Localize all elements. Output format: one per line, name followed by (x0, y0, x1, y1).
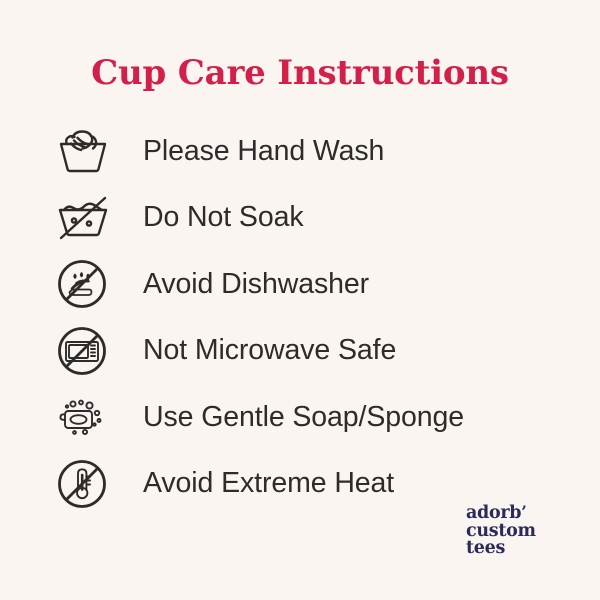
list-item: Not Microwave Safe (56, 318, 556, 385)
list-item-label: Not Microwave Safe (143, 334, 396, 367)
list-item-label: Avoid Extreme Heat (143, 467, 394, 500)
list-item-label: Avoid Dishwasher (143, 268, 369, 301)
list-item: Use Gentle Soap/Sponge (56, 384, 556, 451)
no-dishwasher-icon (56, 259, 114, 309)
list-item: Do Not Soak (56, 185, 556, 252)
page-title: Cup Care Instructions (0, 53, 600, 93)
soap-bar-bubbles-icon (56, 392, 114, 442)
logo-line-1: adorb’ (466, 505, 536, 523)
logo-apostrophe-mark: ’ (521, 503, 526, 521)
no-soak-basin-icon (56, 193, 114, 243)
list-item: Avoid Dishwasher (56, 251, 556, 318)
hand-wash-basin-icon (56, 126, 114, 176)
no-microwave-icon (56, 326, 114, 376)
brand-logo: adorb’ custom tees (466, 505, 536, 558)
list-item-label: Do Not Soak (143, 201, 303, 234)
no-thermometer-heat-icon (56, 459, 114, 509)
logo-word-adorb: adorb (466, 503, 521, 523)
logo-line-3: tees (466, 540, 536, 558)
instruction-list: Please Hand Wash Do Not Soak (56, 118, 556, 517)
care-instructions-card: Cup Care Instructions Please Ha (0, 0, 600, 600)
list-item-label: Please Hand Wash (143, 135, 384, 168)
list-item: Please Hand Wash (56, 118, 556, 185)
list-item-label: Use Gentle Soap/Sponge (143, 401, 464, 434)
